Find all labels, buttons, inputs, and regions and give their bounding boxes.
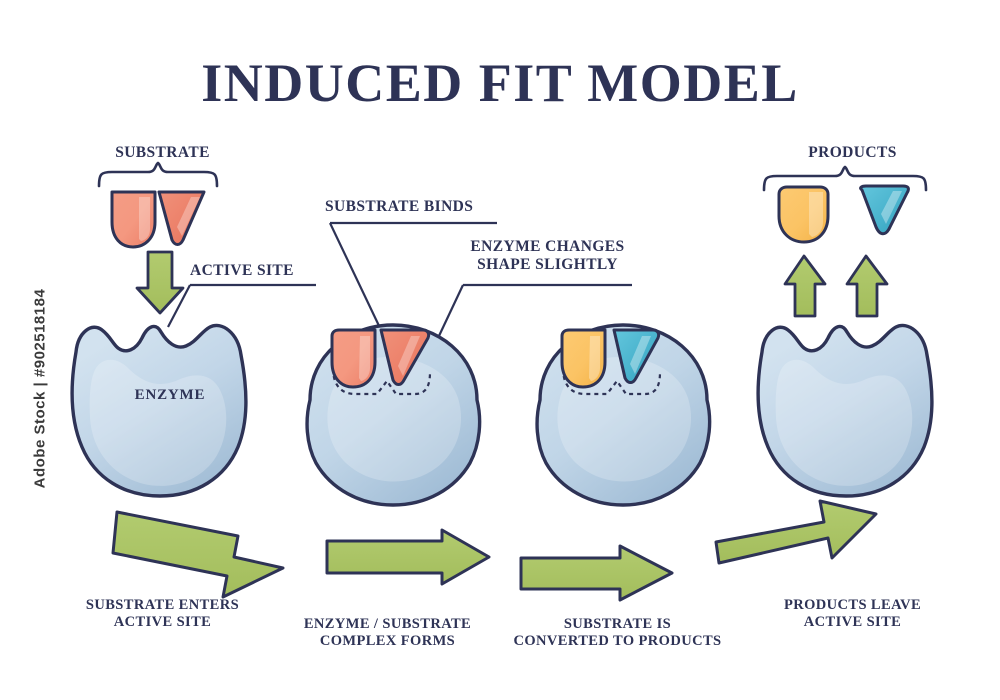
substrate-entry-arrow (137, 252, 183, 313)
caption-step-2: ENZYME / SUBSTRATE COMPLEX FORMS (275, 616, 500, 650)
label-enzyme: ENZYME (90, 387, 250, 405)
stock-watermark: Adobe Stock | #902518184 (32, 269, 49, 509)
label-substrate: SUBSTRATE (55, 144, 270, 162)
label-enzyme-changes: ENZYME CHANGES SHAPE SLIGHTLY (455, 238, 640, 275)
enzyme-stage-4 (758, 325, 932, 496)
active-site-leader (168, 285, 316, 327)
product-yellow (779, 187, 828, 242)
substrate-brace (99, 163, 217, 186)
substrate-piece-u (112, 192, 155, 247)
process-arrow-1 (113, 512, 283, 597)
diagram-canvas: INDUCED FIT MODEL SUBSTRATE PRODUCTS ACT… (0, 0, 1000, 700)
label-products: PRODUCTS (745, 144, 960, 162)
process-arrow-2 (327, 530, 489, 584)
converted-product-yellow (562, 330, 605, 387)
page-title: INDUCED FIT MODEL (0, 52, 1000, 116)
product-release-arrow-right (847, 256, 887, 316)
enzyme-stage-1 (72, 325, 246, 496)
process-arrow-3 (521, 546, 672, 600)
bound-substrate-u (332, 330, 375, 387)
caption-step-4: PRODUCTS LEAVE ACTIVE SITE (745, 597, 960, 631)
product-teal (861, 186, 909, 234)
label-active-site: ACTIVE SITE (190, 262, 320, 280)
process-arrow-4 (716, 501, 876, 563)
label-substrate-binds: SUBSTRATE BINDS (325, 198, 505, 216)
substrate-piece-v (159, 192, 204, 245)
caption-step-1: SUBSTRATE ENTERS ACTIVE SITE (55, 597, 270, 631)
caption-step-3: SUBSTRATE IS CONVERTED TO PRODUCTS (500, 616, 735, 650)
product-release-arrow-left (785, 256, 825, 316)
